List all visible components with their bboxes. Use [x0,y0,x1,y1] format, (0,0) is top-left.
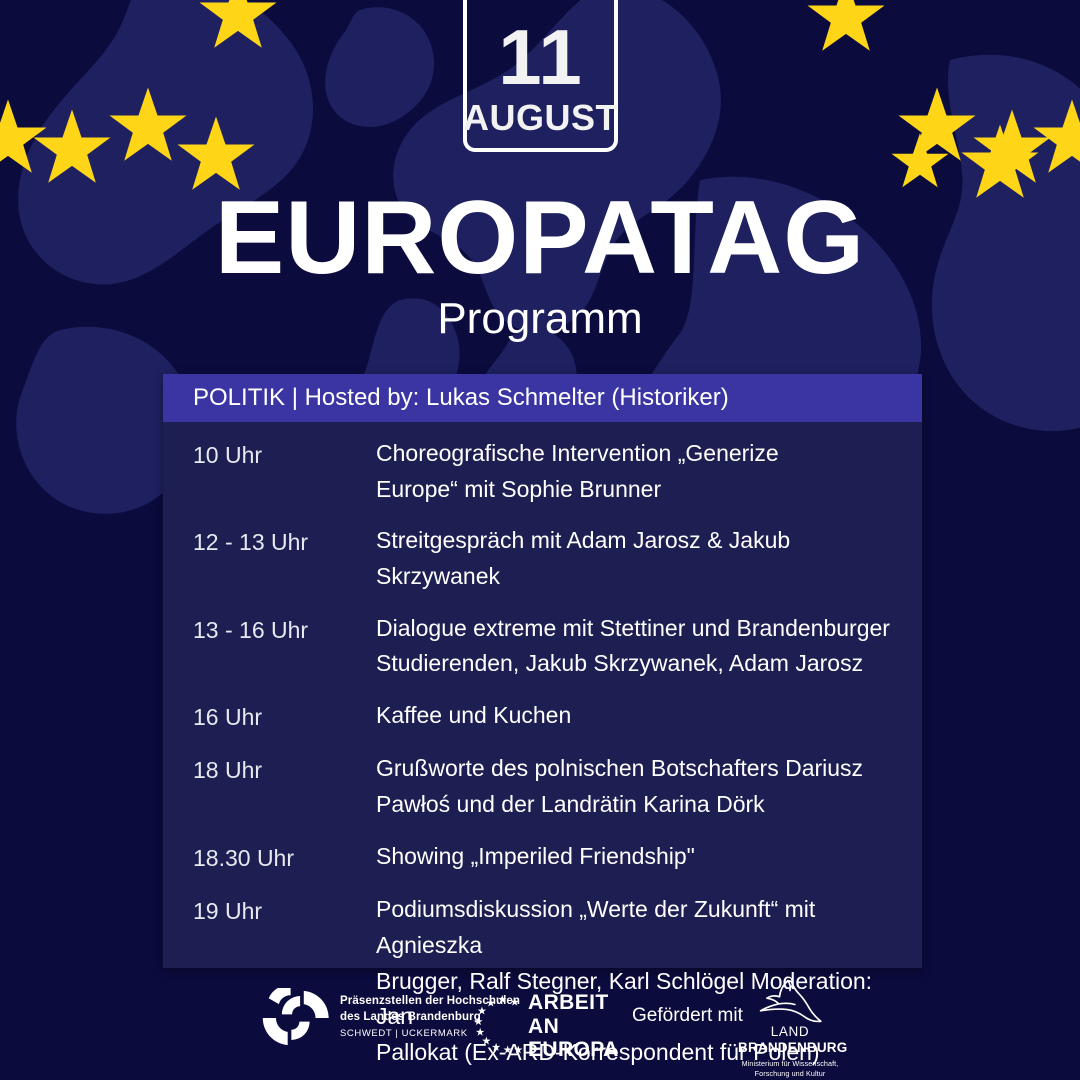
program-row-time: 13 - 16 Uhr [193,611,376,649]
praesenzstellen-spiral-icon [258,988,332,1048]
arbeit-line2: AN [528,1015,619,1039]
program-row: 12 - 13 UhrStreitgespräch mit Adam Jaros… [163,523,922,594]
program-rows: 10 UhrChoreografische Intervention „Gene… [163,422,922,1071]
brandenburg-eagle-icon [748,979,832,1023]
logo-arbeit-an-europa: ARBEIT AN EUROPA [470,991,619,1062]
program-row: 13 - 16 UhrDialogue extreme mit Stettine… [163,611,922,682]
program-row-description: Choreografische Intervention „GenerizeEu… [376,436,896,507]
date-day: 11 [498,20,582,95]
program-row-time: 10 Uhr [193,436,376,474]
program-row-line: Kaffee und Kuchen [376,698,896,734]
arbeit-an-europa-text: ARBEIT AN EUROPA [528,991,619,1062]
program-section-header-label: POLITIK | Hosted by: Lukas Schmelter (Hi… [193,386,729,410]
program-row-description: Streitgespräch mit Adam Jarosz & Jakub S… [376,523,896,594]
program-row-description: Showing „Imperiled Friendship" [376,839,896,875]
logo-land-brandenburg: LAND BRANDENBURG Ministerium für Wissens… [738,979,842,1080]
program-row: 10 UhrChoreografische Intervention „Gene… [163,436,922,507]
arbeit-line3: EUROPA [528,1038,619,1062]
program-row-description: Kaffee und Kuchen [376,698,896,734]
program-row-line: Podiumsdiskussion „Werte der Zukunft“ mi… [376,892,896,963]
program-row-time: 16 Uhr [193,698,376,736]
brandenburg-line3: Ministerium für Wissenschaft, Forschung … [738,1059,842,1080]
date-badge: 11 AUGUST [463,0,618,152]
program-row: 18.30 UhrShowing „Imperiled Friendship" [163,839,922,877]
program-row: 18 UhrGrußworte des polnischen Botschaft… [163,751,922,822]
program-row-line: Grußworte des polnischen Botschafters Da… [376,751,896,787]
arbeit-line1: ARBEIT [528,991,619,1015]
program-panel: POLITIK | Hosted by: Lukas Schmelter (Hi… [163,374,922,968]
program-row-description: Grußworte des polnischen Botschafters Da… [376,751,896,822]
brandenburg-line2: BRANDENBURG [738,1040,842,1056]
date-month: AUGUST [463,98,618,138]
program-row-line: Europe“ mit Sophie Brunner [376,472,896,508]
europatag-poster: 11 AUGUST EUROPATAG Programm POLITIK | H… [0,0,1080,1080]
program-row-line: Streitgespräch mit Adam Jarosz & Jakub S… [376,523,896,594]
program-row-description: Dialogue extreme mit Stettiner und Brand… [376,611,896,682]
program-row-time: 12 - 13 Uhr [193,523,376,561]
program-row-time: 19 Uhr [193,892,376,930]
brandenburg-line1: LAND [738,1024,842,1040]
program-row-line: Pawłoś und der Landrätin Karina Dörk [376,787,896,823]
program-row-line: Choreografische Intervention „Generize [376,436,896,472]
program-row-line: Dialogue extreme mit Stettiner und Brand… [376,611,896,647]
program-row-time: 18.30 Uhr [193,839,376,877]
program-row: 16 UhrKaffee und Kuchen [163,698,922,736]
program-row-time: 18 Uhr [193,751,376,789]
page-subtitle: Programm [0,297,1080,341]
program-row-line: Showing „Imperiled Friendship" [376,839,896,875]
program-section-header: POLITIK | Hosted by: Lukas Schmelter (Hi… [163,374,922,422]
page-title: EUROPATAG [0,186,1080,290]
footer-logos: Präsenzstellen der Hochschulen des Lande… [0,975,1080,1080]
arbeit-an-europa-stars-icon [470,995,524,1057]
program-row-line: Studierenden, Jakub Skrzywanek, Adam Jar… [376,646,896,682]
funding-label: Gefördert mit [632,1006,743,1025]
